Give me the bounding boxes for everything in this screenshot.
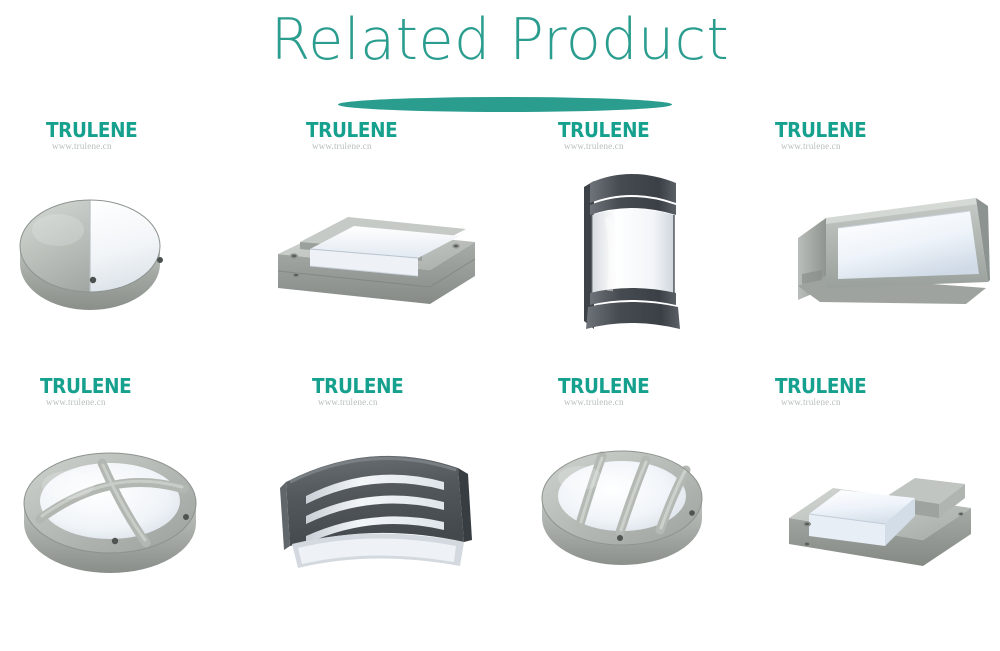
watermark-logo: TRULENE www.trulene.cn — [40, 376, 160, 408]
watermark-logo: TRULENE www.trulene.cn — [306, 120, 426, 152]
watermark-logo: TRULENE www.trulene.cn — [46, 120, 166, 152]
product-cell-oval-bulkhead-plain[interactable]: TRULENE www.trulene.cn — [0, 118, 250, 380]
product-cell-oval-bulkhead-bar-guard[interactable]: TRULENE www.trulene.cn — [500, 376, 750, 638]
watermark-logo: TRULENE www.trulene.cn — [775, 120, 895, 152]
page-header: Related Product — [0, 0, 1000, 120]
product-image-cylindrical-wall-lamp[interactable] — [568, 153, 693, 343]
title-divider-ellipse — [338, 97, 672, 112]
watermark-logo: TRULENE www.trulene.cn — [775, 376, 895, 408]
product-image-rectangular-surface-light[interactable] — [270, 176, 485, 316]
watermark-brand: TRULENE — [312, 376, 422, 396]
watermark-brand: TRULENE — [306, 120, 416, 140]
product-cell-rectangular-surface-light[interactable]: TRULENE www.trulene.cn — [250, 118, 500, 380]
watermark-logo: TRULENE www.trulene.cn — [558, 376, 678, 408]
watermark-url: www.trulene.cn — [312, 141, 426, 152]
watermark-url: www.trulene.cn — [564, 397, 678, 408]
product-grid: TRULENE www.trulene.cn — [0, 118, 1000, 651]
watermark-brand: TRULENE — [558, 376, 668, 396]
watermark-url: www.trulene.cn — [318, 397, 432, 408]
product-row: TRULENE www.trulene.cn — [0, 118, 1000, 380]
watermark-url: www.trulene.cn — [46, 397, 160, 408]
watermark-url: www.trulene.cn — [781, 397, 895, 408]
page-title: Related Product — [0, 12, 1000, 69]
watermark-url: www.trulene.cn — [564, 141, 678, 152]
product-row: TRULENE www.trulene.cn — [0, 376, 1000, 638]
product-image-oval-bulkhead-cross-guard[interactable] — [10, 431, 235, 581]
product-cell-wedge-wall-light[interactable]: TRULENE www.trulene.cn — [750, 118, 1000, 380]
product-cell-oval-bulkhead-cross-guard[interactable]: TRULENE www.trulene.cn — [0, 376, 250, 638]
product-cell-cylindrical-wall-lamp[interactable]: TRULENE www.trulene.cn — [500, 118, 750, 380]
watermark-brand: TRULENE — [775, 120, 885, 140]
watermark-logo: TRULENE www.trulene.cn — [558, 120, 678, 152]
watermark-url: www.trulene.cn — [52, 141, 166, 152]
watermark-logo: TRULENE www.trulene.cn — [312, 376, 432, 408]
watermark-url: www.trulene.cn — [781, 141, 895, 152]
product-image-rectangular-box-light[interactable] — [775, 426, 980, 576]
watermark-brand: TRULENE — [46, 120, 156, 140]
watermark-brand: TRULENE — [40, 376, 150, 396]
product-image-wedge-wall-light[interactable] — [790, 176, 995, 316]
watermark-brand: TRULENE — [558, 120, 668, 140]
product-image-curved-louvered-light[interactable] — [268, 424, 478, 584]
product-cell-curved-louvered-light[interactable]: TRULENE www.trulene.cn — [250, 376, 500, 638]
product-cell-rectangular-box-light[interactable]: TRULENE www.trulene.cn — [750, 376, 1000, 638]
watermark-brand: TRULENE — [775, 376, 885, 396]
product-image-oval-bulkhead-bar-guard[interactable] — [528, 428, 733, 573]
product-image-oval-bulkhead-plain[interactable] — [10, 168, 240, 328]
